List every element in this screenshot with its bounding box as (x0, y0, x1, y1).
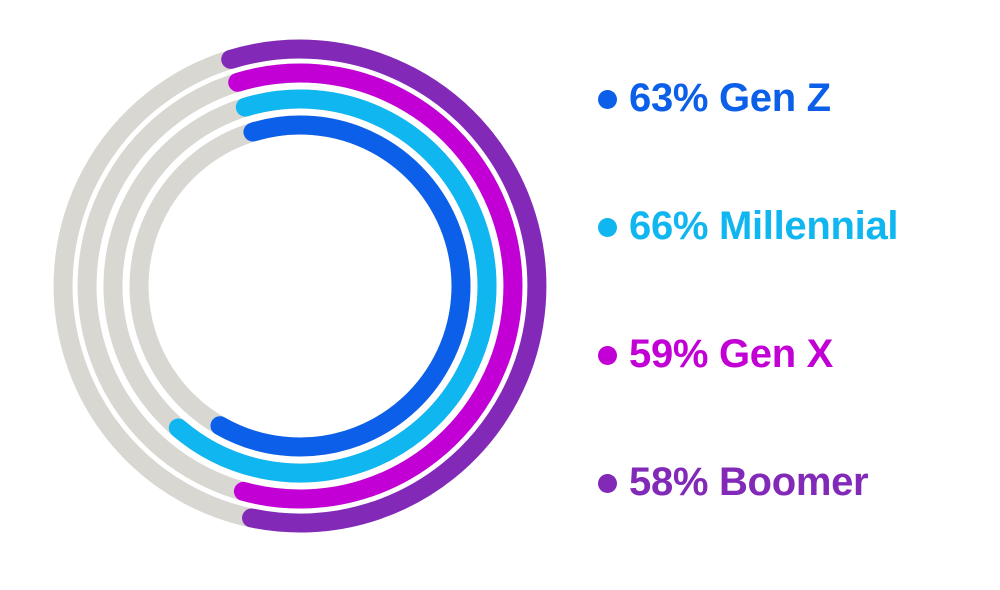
legend-bullet-icon (598, 346, 617, 365)
ring-track (139, 132, 347, 447)
legend-item-label: 63% Gen Z (629, 78, 831, 118)
legend-bullet-icon (598, 218, 617, 237)
legend-item-gen-x[interactable]: 59% Gen X (598, 290, 998, 418)
ring-arc-gen-z (220, 125, 461, 447)
radial-chart-svg (0, 0, 600, 590)
legend-item-boomer[interactable]: 58% Boomer (598, 418, 998, 546)
legend-bullet-icon (598, 90, 617, 109)
legend-item-label: 59% Gen X (629, 334, 833, 374)
ring-track (113, 107, 355, 473)
legend-item-label: 66% Millennial (629, 206, 898, 246)
legend-bullet-icon (598, 474, 617, 493)
infographic-page: 63% Gen Z 66% Millennial 59% Gen X 58% B… (0, 0, 1000, 590)
radial-bar-chart (0, 0, 600, 590)
ring-arc-millennial (178, 99, 487, 473)
legend-item-millennial[interactable]: 66% Millennial (598, 162, 998, 290)
chart-legend: 63% Gen Z 66% Millennial 59% Gen X 58% B… (598, 34, 998, 556)
legend-item-label: 58% Boomer (629, 462, 868, 502)
legend-item-gen-z[interactable]: 63% Gen Z (598, 34, 998, 162)
